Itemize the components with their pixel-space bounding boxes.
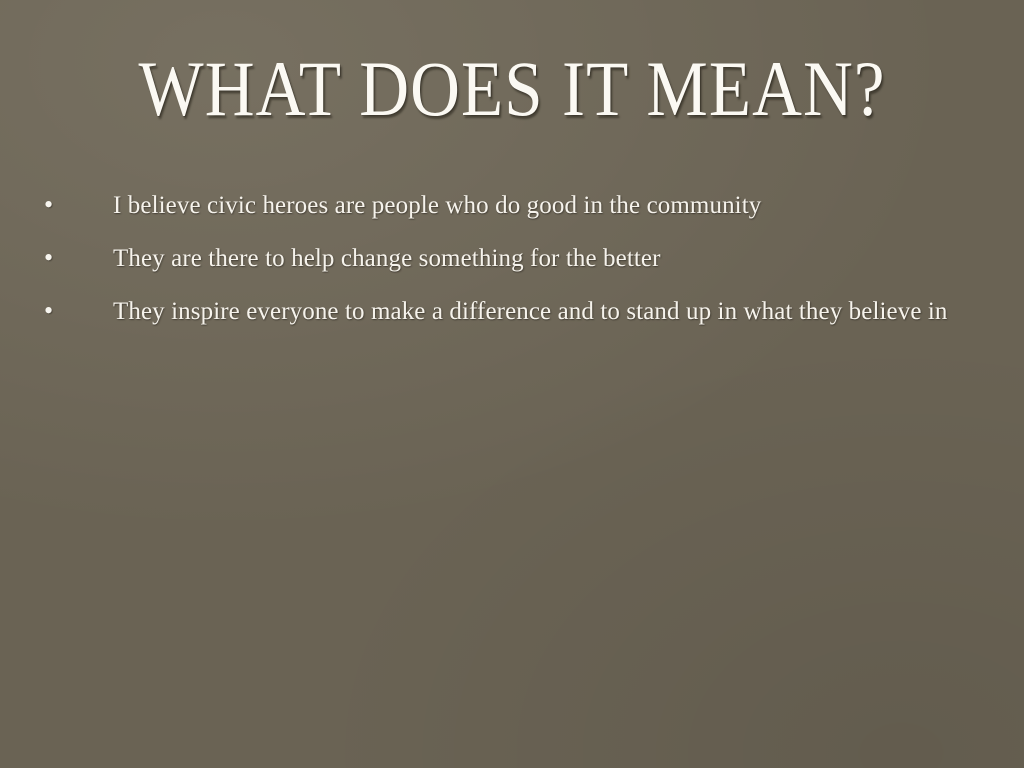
list-item: • They are there to help change somethin… <box>0 245 1024 298</box>
list-item: • I believe civic heroes are people who … <box>0 192 1024 245</box>
bullet-point-icon: • <box>44 298 54 324</box>
list-item: • They inspire everyone to make a differ… <box>0 298 1024 351</box>
presentation-slide: WHAT DOES IT MEAN? • I believe civic her… <box>0 0 1024 768</box>
bullet-text: I believe civic heroes are people who do… <box>113 192 761 221</box>
bullet-point-icon: • <box>44 192 54 218</box>
bullet-text: They are there to help change something … <box>113 245 661 274</box>
slide-title-block: WHAT DOES IT MEAN? <box>0 48 1024 130</box>
page-title: WHAT DOES IT MEAN? <box>138 48 885 130</box>
slide-body-content: • I believe civic heroes are people who … <box>0 192 1024 351</box>
bullet-point-icon: • <box>44 245 54 271</box>
bullet-text: They inspire everyone to make a differen… <box>113 298 948 327</box>
